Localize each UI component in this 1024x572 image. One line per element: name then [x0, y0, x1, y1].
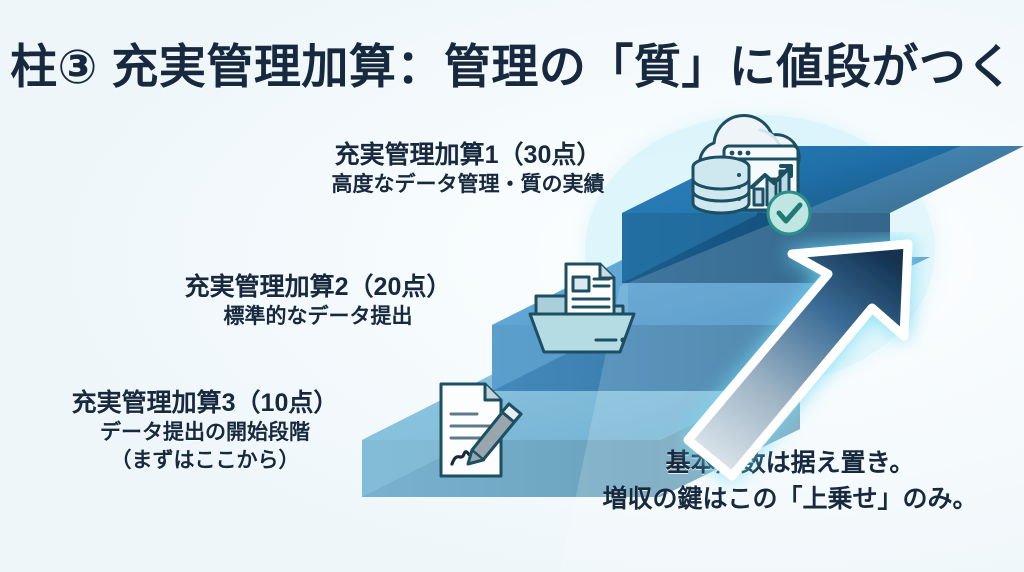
tier-2-label-group: 充実管理加算2（20点） 標準的なデータ提出 [118, 272, 518, 331]
tier-2-subtitle: 標準的なデータ提出 [118, 303, 518, 330]
tier-2-title: 充実管理加算2（20点） [118, 272, 518, 303]
folder-document-icon [522, 252, 642, 364]
tier-3-label-group: 充実管理加算3（10点） データ提出の開始段階 （まずはここから） [10, 388, 400, 474]
tier-1-label-group: 充実管理加算1（30点） 高度なデータ管理・質の実績 [268, 140, 668, 199]
slide-canvas: 柱③ 充実管理加算：管理の「質」に値段がつく 充実管理加算1（30点） 高度なデ… [0, 0, 1024, 572]
tier-3-subtitle-secondary: （まずはここから） [10, 447, 400, 474]
upward-growth-arrow [676, 232, 936, 494]
tier-3-subtitle: データ提出の開始段階 [10, 419, 400, 446]
tier-3-title: 充実管理加算3（10点） [10, 388, 400, 419]
page-title: 柱③ 充実管理加算：管理の「質」に値段がつく [0, 28, 1024, 97]
tier-1-subtitle: 高度なデータ管理・質の実績 [268, 171, 668, 198]
tier-1-title: 充実管理加算1（30点） [268, 140, 668, 171]
signed-document-pen-icon [425, 376, 533, 484]
cloud-database-analytics-icon [676, 113, 826, 243]
